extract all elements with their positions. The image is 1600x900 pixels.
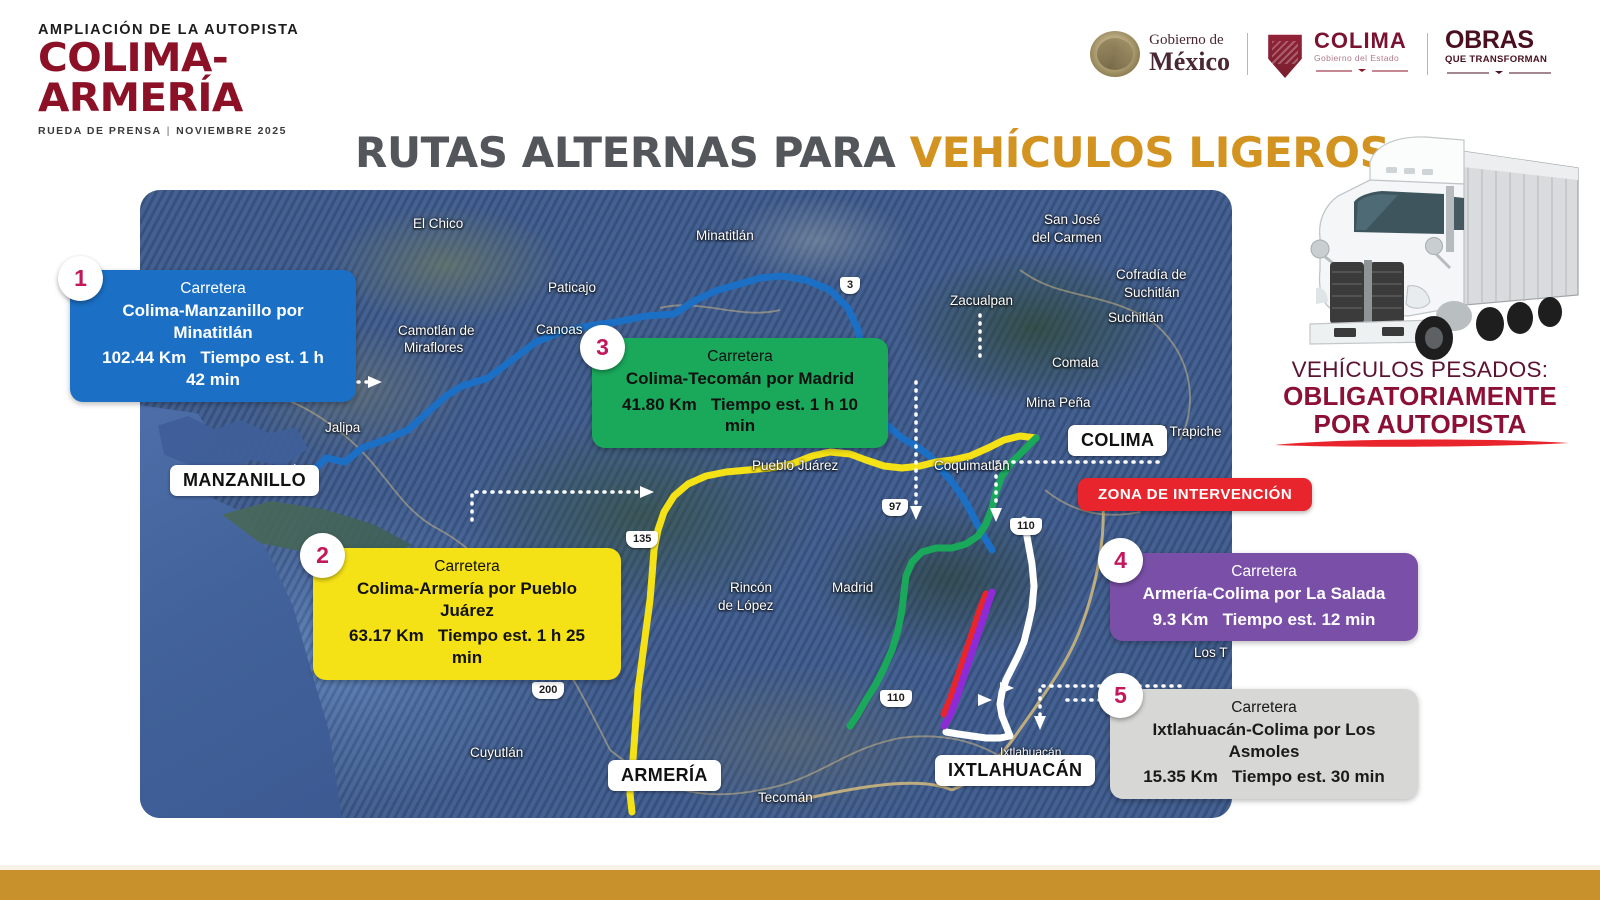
map-place-suchitlan-2: Suchitlán <box>1108 310 1164 326</box>
highway-shield-110-b: 110 <box>880 690 912 707</box>
route-4-stats: 9.3 Km Tiempo est. 12 min <box>1132 609 1396 631</box>
city-label-manzanillo: MANZANILLO <box>170 465 319 496</box>
city-label-ixtlahuacan: IXTLAHUACÁN <box>935 755 1095 786</box>
route-badge-4[interactable]: 4 <box>1098 538 1143 583</box>
government-logos: Gobierno de México COLIMA Gobierno del E… <box>1073 26 1570 82</box>
map-place-jalipa: Jalipa <box>325 420 360 436</box>
route-3-time: Tiempo est. 1 h 10 min <box>711 395 858 436</box>
footer-bar <box>0 870 1600 900</box>
obras-sublabel: QUE TRANSFORMAN <box>1445 55 1553 65</box>
city-label-colima: COLIMA <box>1068 425 1167 456</box>
map-place-pueblo-juarez: Pueblo Juárez <box>752 458 838 474</box>
ornament-rule-2-icon <box>1445 70 1553 76</box>
route-1-stats: 102.44 Km Tiempo est. 1 h 42 min <box>92 347 334 391</box>
route-5-time: Tiempo est. 30 min <box>1232 767 1385 786</box>
route-5-distance: 15.35 Km <box>1143 767 1218 786</box>
highway-shield-200: 200 <box>532 682 564 699</box>
route-5-name: Ixtlahuacán-Colima por Los Asmoles <box>1132 719 1396 763</box>
route-2-time: Tiempo est. 1 h 25 min <box>438 626 585 667</box>
route-4-kind: Carretera <box>1132 562 1396 582</box>
header-date: NOVIEMBRE 2025 <box>176 125 287 137</box>
highway-shield-110-a: 110 <box>1010 518 1042 535</box>
route-1-kind: Carretera <box>92 279 334 299</box>
map-place-cuyutlan: Cuyutlán <box>470 745 523 761</box>
route-badge-2[interactable]: 2 <box>300 533 345 578</box>
map-place-madrid: Madrid <box>832 580 873 596</box>
route-3-name: Colima-Tecomán por Madrid <box>614 368 866 390</box>
title-part-grey: RUTAS ALTERNAS PARA <box>355 128 895 177</box>
route-1-name: Colima-Manzanillo por Minatitlán <box>92 300 334 344</box>
route-2-path-south <box>630 690 638 812</box>
logo-obras-que-transforman: OBRAS QUE TRANSFORMAN <box>1428 28 1570 81</box>
city-label-armeria: ARMERÍA <box>608 760 721 791</box>
route-2-name: Colima-Armería por Pueblo Juárez <box>335 578 599 622</box>
route-card-4[interactable]: Carretera Armería-Colima por La Salada 9… <box>1110 553 1418 641</box>
logo-divider-2 <box>1427 33 1428 75</box>
route-4-time: Tiempo est. 12 min <box>1223 610 1376 629</box>
map-place-cofradia-de: Cofradía de <box>1116 267 1187 283</box>
route-badge-3[interactable]: 3 <box>580 325 625 370</box>
route-card-5[interactable]: Carretera Ixtlahuacán-Colima por Los Asm… <box>1110 689 1418 799</box>
route-1-distance: 102.44 Km <box>102 348 186 367</box>
header-separator: | <box>167 125 171 137</box>
route-2-path <box>638 436 1036 690</box>
colima-label: COLIMA <box>1314 30 1410 52</box>
highway-shield-97: 97 <box>882 499 908 516</box>
map-place-comala: Comala <box>1052 355 1099 371</box>
event-header-logo: AMPLIACIÓN DE LA AUTOPISTA COLIMA-ARMERÍ… <box>38 22 338 137</box>
route-badge-1[interactable]: 1 <box>58 256 103 301</box>
route-2-kind: Carretera <box>335 557 599 577</box>
route-4-distance: 9.3 Km <box>1153 610 1209 629</box>
heavy-vehicles-line3: POR AUTOPISTA <box>1245 410 1595 438</box>
map-place-el-chico: El Chico <box>413 216 463 232</box>
logo-gobierno-de-mexico: Gobierno de México <box>1073 31 1247 77</box>
route-5-kind: Carretera <box>1132 698 1396 718</box>
map-place-tecoman: Tecomán <box>758 790 813 806</box>
colima-sublabel: Gobierno del Estado <box>1314 54 1410 63</box>
route-3-distance: 41.80 Km <box>622 395 697 414</box>
route-2-distance: 63.17 Km <box>349 626 424 645</box>
map-place-minatitlan: Minatitlán <box>696 228 754 244</box>
route-3-kind: Carretera <box>614 347 866 367</box>
route-badge-5[interactable]: 5 <box>1098 673 1143 718</box>
obras-label: OBRAS <box>1445 28 1553 53</box>
map-place-san-jose: San José <box>1044 212 1100 228</box>
header-event: RUEDA DE PRENSA <box>38 125 162 137</box>
page-title: RUTAS ALTERNAS PARA VEHÍCULOS LIGEROS <box>355 128 1389 177</box>
gobierno-label: Gobierno de <box>1149 33 1230 48</box>
map-place-miraflores: Miraflores <box>404 340 463 356</box>
heavy-vehicles-underline-icon <box>1272 437 1572 448</box>
heavy-vehicles-line1: VEHÍCULOS PESADOS: <box>1245 358 1595 382</box>
heavy-vehicles-line2: OBLIGATORIAMENTE <box>1245 382 1595 410</box>
highway-shield-3: 3 <box>840 277 860 294</box>
route-5-stats: 15.35 Km Tiempo est. 30 min <box>1132 766 1396 788</box>
route-3-stats: 41.80 Km Tiempo est. 1 h 10 min <box>614 394 866 438</box>
ornament-rule-icon <box>1314 68 1410 74</box>
map-place-canoas: Canoas <box>536 322 583 338</box>
route-2-stats: 63.17 Km Tiempo est. 1 h 25 min <box>335 625 599 669</box>
logo-divider <box>1247 33 1248 75</box>
mexican-eagle-seal-icon <box>1090 31 1140 77</box>
colima-coat-of-arms-icon <box>1265 30 1305 78</box>
route-card-1[interactable]: Carretera Colima-Manzanillo por Minatitl… <box>70 270 356 402</box>
map-place-zacualpan: Zacualpan <box>950 293 1013 309</box>
highway-shield-135: 135 <box>626 531 658 548</box>
route-card-2[interactable]: Carretera Colima-Armería por Pueblo Juár… <box>313 548 621 680</box>
zona-intervencion-badge[interactable]: ZONA DE INTERVENCIÓN <box>1078 478 1312 511</box>
map-place-de-lopez: de López <box>718 598 774 614</box>
header-event-line: RUEDA DE PRENSA|NOVIEMBRE 2025 <box>38 125 338 137</box>
map-place-camotlan: Camotlán de <box>398 323 475 339</box>
map-place-coquimatlan: Coquimatlán <box>934 458 1010 474</box>
heavy-vehicles-notice: VEHÍCULOS PESADOS: OBLIGATORIAMENTE POR … <box>1245 358 1595 438</box>
map-place-rincon: Rincón <box>730 580 772 596</box>
route-4-name: Armería-Colima por La Salada <box>1132 583 1396 605</box>
logo-gobierno-colima: COLIMA Gobierno del Estado <box>1248 30 1427 79</box>
heavy-truck-image <box>1258 110 1588 365</box>
truck-icon <box>1258 110 1588 365</box>
header-title: COLIMA-ARMERÍA <box>38 39 350 119</box>
map-place-suchitlan-1: Suchitlán <box>1124 285 1180 301</box>
route-4-path-purple <box>944 592 992 726</box>
map-place-paticajo: Paticajo <box>548 280 596 296</box>
map-place-mina-pena: Mina Peña <box>1026 395 1091 411</box>
route-card-3[interactable]: Carretera Colima-Tecomán por Madrid 41.8… <box>592 338 888 448</box>
route-1-time: Tiempo est. 1 h 42 min <box>186 348 324 389</box>
map-place-del-carmen: del Carmen <box>1032 230 1102 246</box>
mexico-label: México <box>1149 49 1230 75</box>
map-place-los-t: Los T <box>1194 645 1228 661</box>
